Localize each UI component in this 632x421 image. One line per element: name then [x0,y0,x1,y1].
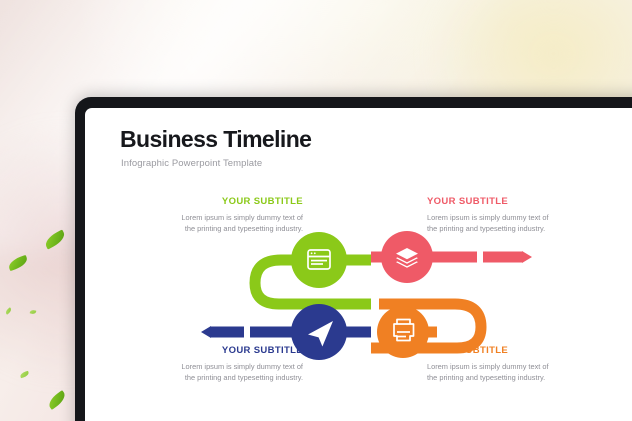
printer-icon [394,320,414,341]
block-body: Lorem ipsum is simply dummy text of the … [151,361,303,384]
block-body: Lorem ipsum is simply dummy text of the … [427,361,579,384]
layers-icon [396,248,418,268]
block-heading: YOUR SUBTITLE [151,196,303,207]
block-body-line-1: Lorem ipsum is simply dummy text of [151,361,303,372]
block-body-line-1: Lorem ipsum is simply dummy text of [427,212,579,223]
page-title: Business Timeline [120,126,311,153]
browser-window-icon [308,250,330,269]
arrow-tip-pink [522,251,532,263]
block-heading: YOUR SUBTITLE [151,345,303,356]
block-body-line-2: the printing and typesetting industry. [427,223,579,234]
node-orange-circle[interactable] [377,306,429,358]
block-body-line-2: the printing and typesetting industry. [151,372,303,383]
block-heading: YOUR SUBTITLE [427,345,579,356]
block-body: Lorem ipsum is simply dummy text of the … [427,212,579,235]
block-heading: YOUR SUBTITLE [427,196,579,207]
block-body-line-1: Lorem ipsum is simply dummy text of [427,361,579,372]
text-block-bottom-left: YOUR SUBTITLE Lorem ipsum is simply dumm… [151,345,303,384]
page-subtitle: Infographic Powerpoint Template [121,158,262,169]
connector-green [255,260,371,304]
block-body-line-1: Lorem ipsum is simply dummy text of [151,212,303,223]
block-body-line-2: the printing and typesetting industry. [151,223,303,234]
text-block-top-left: YOUR SUBTITLE Lorem ipsum is simply dumm… [151,196,303,235]
node-green-circle[interactable] [291,232,347,288]
arrow-tip-navy [201,326,211,338]
text-block-bottom-right: YOUR SUBTITLE Lorem ipsum is simply dumm… [427,345,579,384]
block-body-line-2: the printing and typesetting industry. [427,372,579,383]
block-body: Lorem ipsum is simply dummy text of the … [151,212,303,235]
laptop-screen: Business Timeline Infographic Powerpoint… [85,108,632,421]
connector-orange [371,304,481,348]
node-pink-circle[interactable] [381,231,433,283]
navigation-arrow-icon [308,321,333,347]
screenshot-root: Business Timeline Infographic Powerpoint… [0,0,632,421]
text-block-top-right: YOUR SUBTITLE Lorem ipsum is simply dumm… [427,196,579,235]
